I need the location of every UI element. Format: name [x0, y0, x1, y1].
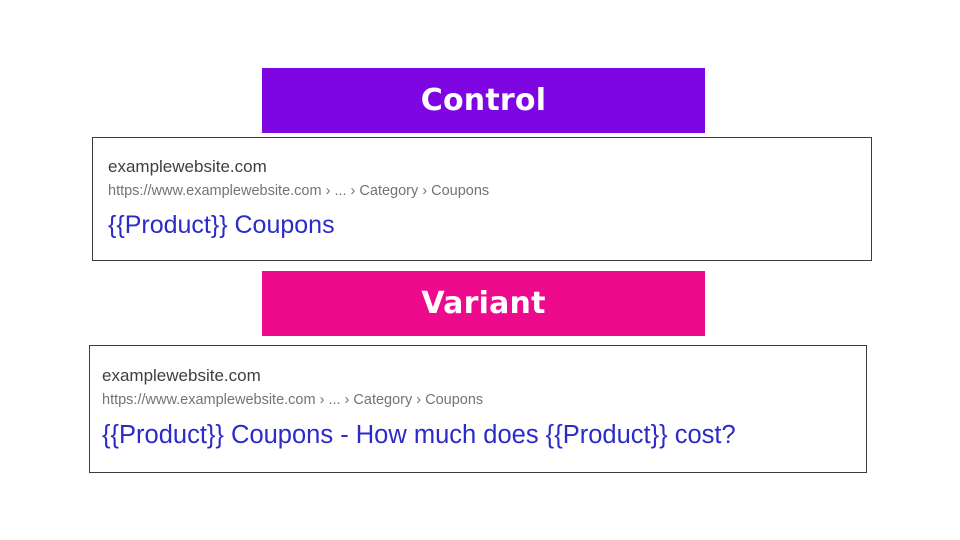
control-result-title-link[interactable]: {{Product}} Coupons — [108, 210, 871, 240]
control-search-result-card: examplewebsite.com https://www.examplewe… — [92, 137, 872, 261]
control-result-domain: examplewebsite.com — [108, 156, 871, 177]
variant-result-title-link[interactable]: {{Product}} Coupons - How much does {{Pr… — [102, 420, 866, 450]
control-result-breadcrumb: https://www.examplewebsite.com › ... › C… — [108, 181, 871, 201]
variant-result-domain: examplewebsite.com — [102, 365, 866, 386]
variant-search-result-card: examplewebsite.com https://www.examplewe… — [89, 345, 867, 473]
variant-banner: Variant — [262, 271, 705, 336]
comparison-stage: Control examplewebsite.com https://www.e… — [0, 0, 960, 540]
variant-result-breadcrumb: https://www.examplewebsite.com › ... › C… — [102, 390, 866, 410]
control-banner-label: Control — [421, 86, 546, 116]
control-banner: Control — [262, 68, 705, 133]
variant-banner-label: Variant — [421, 289, 545, 319]
